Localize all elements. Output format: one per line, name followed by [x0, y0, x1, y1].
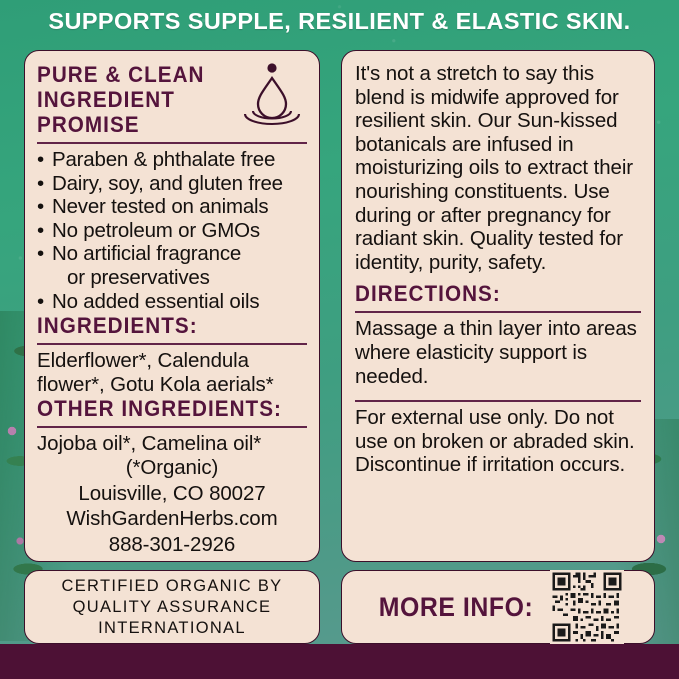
bottom-color-band	[0, 644, 679, 679]
promise-header: PURE & CLEAN INGREDIENT PROMISE	[37, 61, 307, 137]
divider-other-ingredients	[37, 426, 307, 428]
divider-ingredients	[37, 343, 307, 345]
product-description: It's not a stretch to say this blend is …	[355, 62, 641, 274]
list-item: or preservatives	[37, 266, 307, 290]
directions-text: Massage a thin layer into areas where el…	[355, 317, 641, 388]
other-ingredients-heading: OTHER INGREDIENTS:	[37, 396, 291, 421]
list-item: No added essential oils	[37, 290, 307, 314]
promise-title: PURE & CLEAN INGREDIENT PROMISE	[37, 61, 215, 137]
certification-line-2: QUALITY ASSURANCE	[62, 597, 283, 618]
address-website: WishGardenHerbs.com	[37, 507, 307, 531]
ingredient-promise-panel: PURE & CLEAN INGREDIENT PROMISE Paraben …	[24, 50, 320, 562]
list-item: Dairy, soy, and gluten free	[37, 172, 307, 196]
ingredients-heading: INGREDIENTS:	[37, 313, 291, 338]
promise-title-line-2: INGREDIENT	[37, 87, 205, 112]
description-panel: It's not a stretch to say this blend is …	[341, 50, 655, 562]
product-label: SUPPORTS SUPPLE, RESILIENT & ELASTIC SKI…	[0, 0, 679, 679]
divider-warning	[355, 400, 641, 402]
page-title: SUPPORTS SUPPLE, RESILIENT & ELASTIC SKI…	[0, 6, 679, 36]
list-item: No petroleum or GMOs	[37, 219, 307, 243]
address-phone: 888-301-2926	[37, 533, 307, 557]
list-item: No artificial fragrance	[37, 242, 307, 266]
ingredients-text: Elderflower*, Calendula flower*, Gotu Ko…	[37, 349, 307, 396]
organic-note: (*Organic)	[37, 456, 307, 480]
certification-line-3: INTERNATIONAL	[62, 618, 283, 639]
divider-promise	[37, 142, 307, 144]
promise-bullet-list: Paraben & phthalate free Dairy, soy, and…	[37, 148, 307, 313]
other-ingredients-text: Jojoba oil*, Camelina oil*	[37, 432, 307, 456]
promise-title-line-1: PURE & CLEAN	[37, 62, 205, 87]
water-droplet-icon	[241, 61, 303, 131]
list-item: Never tested on animals	[37, 195, 307, 219]
directions-heading: DIRECTIONS:	[355, 281, 624, 306]
promise-title-line-3: PROMISE	[37, 112, 205, 137]
warning-text: For external use only. Do not use on bro…	[355, 406, 641, 477]
list-item: Paraben & phthalate free	[37, 148, 307, 172]
certification-line-1: CERTIFIED ORGANIC BY	[62, 576, 283, 597]
qr-code[interactable]	[550, 570, 624, 644]
address-city: Louisville, CO 80027	[37, 482, 307, 506]
divider-directions	[355, 311, 641, 313]
certification-panel: CERTIFIED ORGANIC BY QUALITY ASSURANCE I…	[24, 570, 320, 644]
more-info-label: MORE INFO:	[379, 592, 534, 623]
certification-text: CERTIFIED ORGANIC BY QUALITY ASSURANCE I…	[62, 576, 283, 639]
more-info-panel[interactable]: MORE INFO:	[341, 570, 655, 644]
